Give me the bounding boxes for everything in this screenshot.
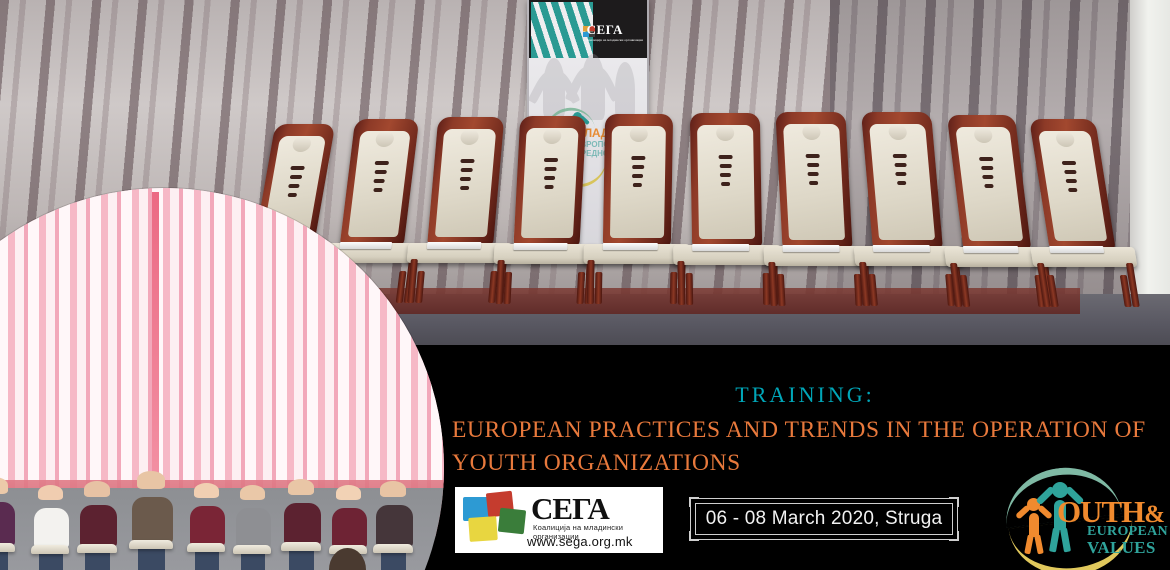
chair-back-slot [544,158,558,162]
chair-back-slot [893,154,907,158]
chair-leg [503,272,512,304]
logo-word-values: VALUES [1087,538,1156,558]
chair-back-slot [984,184,994,188]
inset-chair [31,545,69,554]
chair-back-opening [802,124,821,140]
chair-back-slot [1068,188,1078,192]
chair-back-slot [631,156,645,160]
puzzle-piece-yellow [468,516,498,542]
sega-logo: СЕГА Коалиција на младински организации … [455,487,663,553]
chair-back-slot [544,176,555,180]
training-poster: СЕГА Коалиција на младински организации [0,0,1170,570]
chair-leg [595,272,603,304]
seat-paper [963,246,1019,253]
seat-paper [873,245,930,252]
chair-back-slot [289,175,302,179]
chair-back-slot [374,179,385,183]
chair-back-slot [720,173,731,177]
seat-paper [783,245,840,252]
chair-leg [777,274,786,306]
event-date-frame: 06 - 08 March 2020, Struga [690,498,958,540]
chair-back-slot [1066,179,1078,183]
chair-back-opening [716,125,734,141]
participants-circle-photo [0,188,444,570]
chair-back-slot [895,172,906,176]
chair-back-slot [981,166,994,170]
event-date-text: 06 - 08 March 2020, Struga [690,498,958,540]
chair-back-slot [719,164,732,168]
chair-back-slot [632,165,645,169]
rollup-sega-text: СЕГА [587,22,623,37]
chair-back-slot [1062,161,1077,165]
chair-back-pad [521,128,579,238]
puzzle-piece-green [498,508,526,535]
pink-striped-curtain [0,188,444,488]
inset-chair [187,543,225,552]
inset-chair [281,542,321,551]
chair-leg [677,261,685,305]
chair-back-slot [544,185,554,189]
chair-back-slot [460,186,470,190]
chair-back-slot [809,181,819,185]
chair-back-slot [290,166,305,170]
chair-back-slot [544,167,557,171]
inset-chair [0,543,15,552]
chair-back-slot [460,168,473,172]
chair-back-slot [460,177,471,181]
chair-back-slot [719,155,733,159]
chair-leg [768,262,777,306]
seat-paper [513,243,567,250]
chair-back-slot [894,163,907,167]
inset-chair [77,544,117,553]
chair-back-slot [1064,170,1077,174]
chair-back-slot [982,175,993,179]
seat-paper [693,244,749,251]
rollup-sega-wordmark: СЕГА Коалиција на младински организации [587,22,643,42]
seat-paper [1049,246,1104,253]
seat-paper [603,243,658,250]
chair-back-slot [460,159,474,163]
chair-back-slot [807,163,820,167]
chair-back-slot [979,157,993,161]
inset-chair [373,544,413,553]
rollup-sega-tagline: Коалиција на младински организации [587,38,643,42]
inset-chair [129,540,173,549]
sega-wordmark: СЕГА [531,491,609,527]
chair-back-slot [375,161,389,165]
chair-back-slot [806,154,820,158]
youth-european-values-logo: OUTH& EUROPEAN VALUES [995,466,1160,564]
chair-leg [587,260,595,304]
sega-url: www.sega.org.mk [527,534,633,549]
eyebrow-label: TRAINING: [440,382,1170,408]
chair-leg [868,274,878,306]
inset-chair [233,545,271,554]
chair-back-slot [808,172,819,176]
chair-leg [686,273,694,305]
chair-back-slot [632,174,643,178]
chair-back-slot [721,182,731,186]
poster-title-line1: EUROPEAN PRACTICES AND TRENDS IN THE OPE… [452,414,1152,447]
chair-back-pad [435,129,496,237]
chair-back-slot [374,170,387,174]
chair-back-slot [897,181,907,185]
